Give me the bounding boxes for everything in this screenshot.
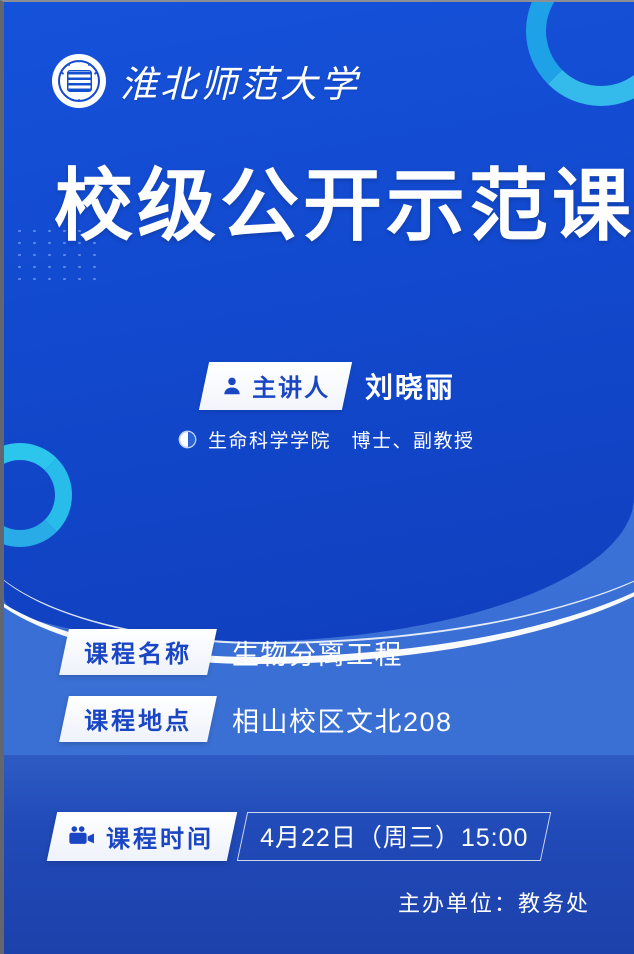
speaker-name: 刘晓丽 xyxy=(365,366,455,406)
course-time-label-badge: 课程时间 xyxy=(47,812,237,861)
university-name: 淮北师范大学 xyxy=(120,54,360,108)
course-location-label: 课程地点 xyxy=(84,701,192,736)
course-name-row: 课程名称 生物分离工程 xyxy=(64,629,403,675)
university-logo: 淮北师范大学 xyxy=(52,54,360,108)
course-time-row: 课程时间 4月22日（周三）15:00 xyxy=(52,812,546,861)
course-time-value-box: 4月22日（周三）15:00 xyxy=(237,812,552,861)
page-title: 校级公开示范课 xyxy=(54,168,594,247)
person-icon xyxy=(221,375,243,397)
course-location-row: 课程地点 相山校区文北208 xyxy=(64,696,453,742)
course-location-value: 相山校区文北208 xyxy=(232,700,453,739)
speaker-label-badge: 主讲人 xyxy=(199,362,352,410)
speaker-affiliation: 生命科学学院 博士、副教授 xyxy=(208,426,475,453)
speaker-affiliation-row: 生命科学学院 博士、副教授 xyxy=(180,426,475,453)
speaker-section: 主讲人 刘晓丽 xyxy=(204,362,455,410)
course-time-label: 课程时间 xyxy=(106,819,214,854)
course-name-label-badge: 课程名称 xyxy=(59,629,217,675)
course-name-value: 生物分离工程 xyxy=(232,633,403,672)
organizer-text: 主办单位：教务处 xyxy=(398,886,590,918)
course-name-label: 课程名称 xyxy=(84,634,192,669)
university-seal-icon xyxy=(52,54,106,108)
seal-tick-marks xyxy=(55,57,103,105)
course-time-value: 4月22日（周三）15:00 xyxy=(260,818,528,854)
poster-canvas: 淮北师范大学 校级公开示范课 主讲人 刘晓丽 生命科学学院 博士、副教授 课程名… xyxy=(0,0,634,954)
video-camera-icon xyxy=(68,826,96,846)
half-circle-bullet-icon xyxy=(180,432,195,447)
course-location-label-badge: 课程地点 xyxy=(59,696,217,742)
speaker-label: 主讲人 xyxy=(252,368,330,403)
